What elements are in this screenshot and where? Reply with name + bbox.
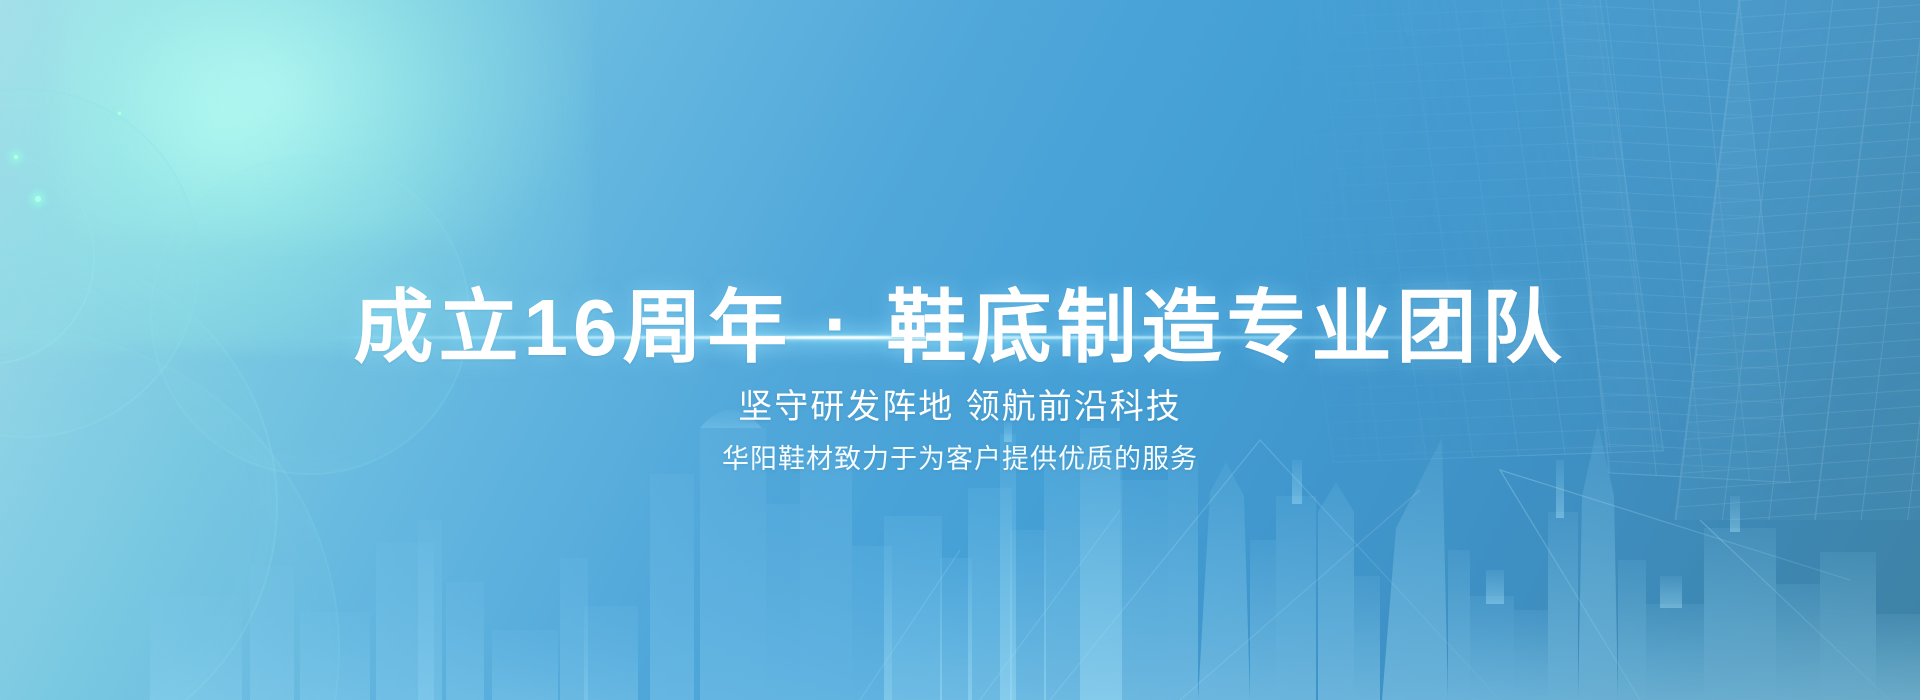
headline-part-1: 成立16周年: [353, 283, 792, 372]
hero-banner: 成立16周年 · 鞋底制造专业团队 坚守研发阵地 领航前沿科技 华阳鞋材致力于为…: [0, 0, 1920, 700]
banner-subtitle: 坚守研发阵地 领航前沿科技: [738, 390, 1181, 424]
headline-separator-icon: ·: [820, 284, 860, 364]
headline-part-2: 鞋底制造专业团队: [887, 283, 1567, 372]
banner-content: 成立16周年 · 鞋底制造专业团队 坚守研发阵地 领航前沿科技 华阳鞋材致力于为…: [0, 0, 1920, 700]
banner-headline: 成立16周年 · 鞋底制造专业团队: [353, 288, 1566, 368]
banner-tagline: 华阳鞋材致力于为客户提供优质的服务: [722, 446, 1198, 473]
